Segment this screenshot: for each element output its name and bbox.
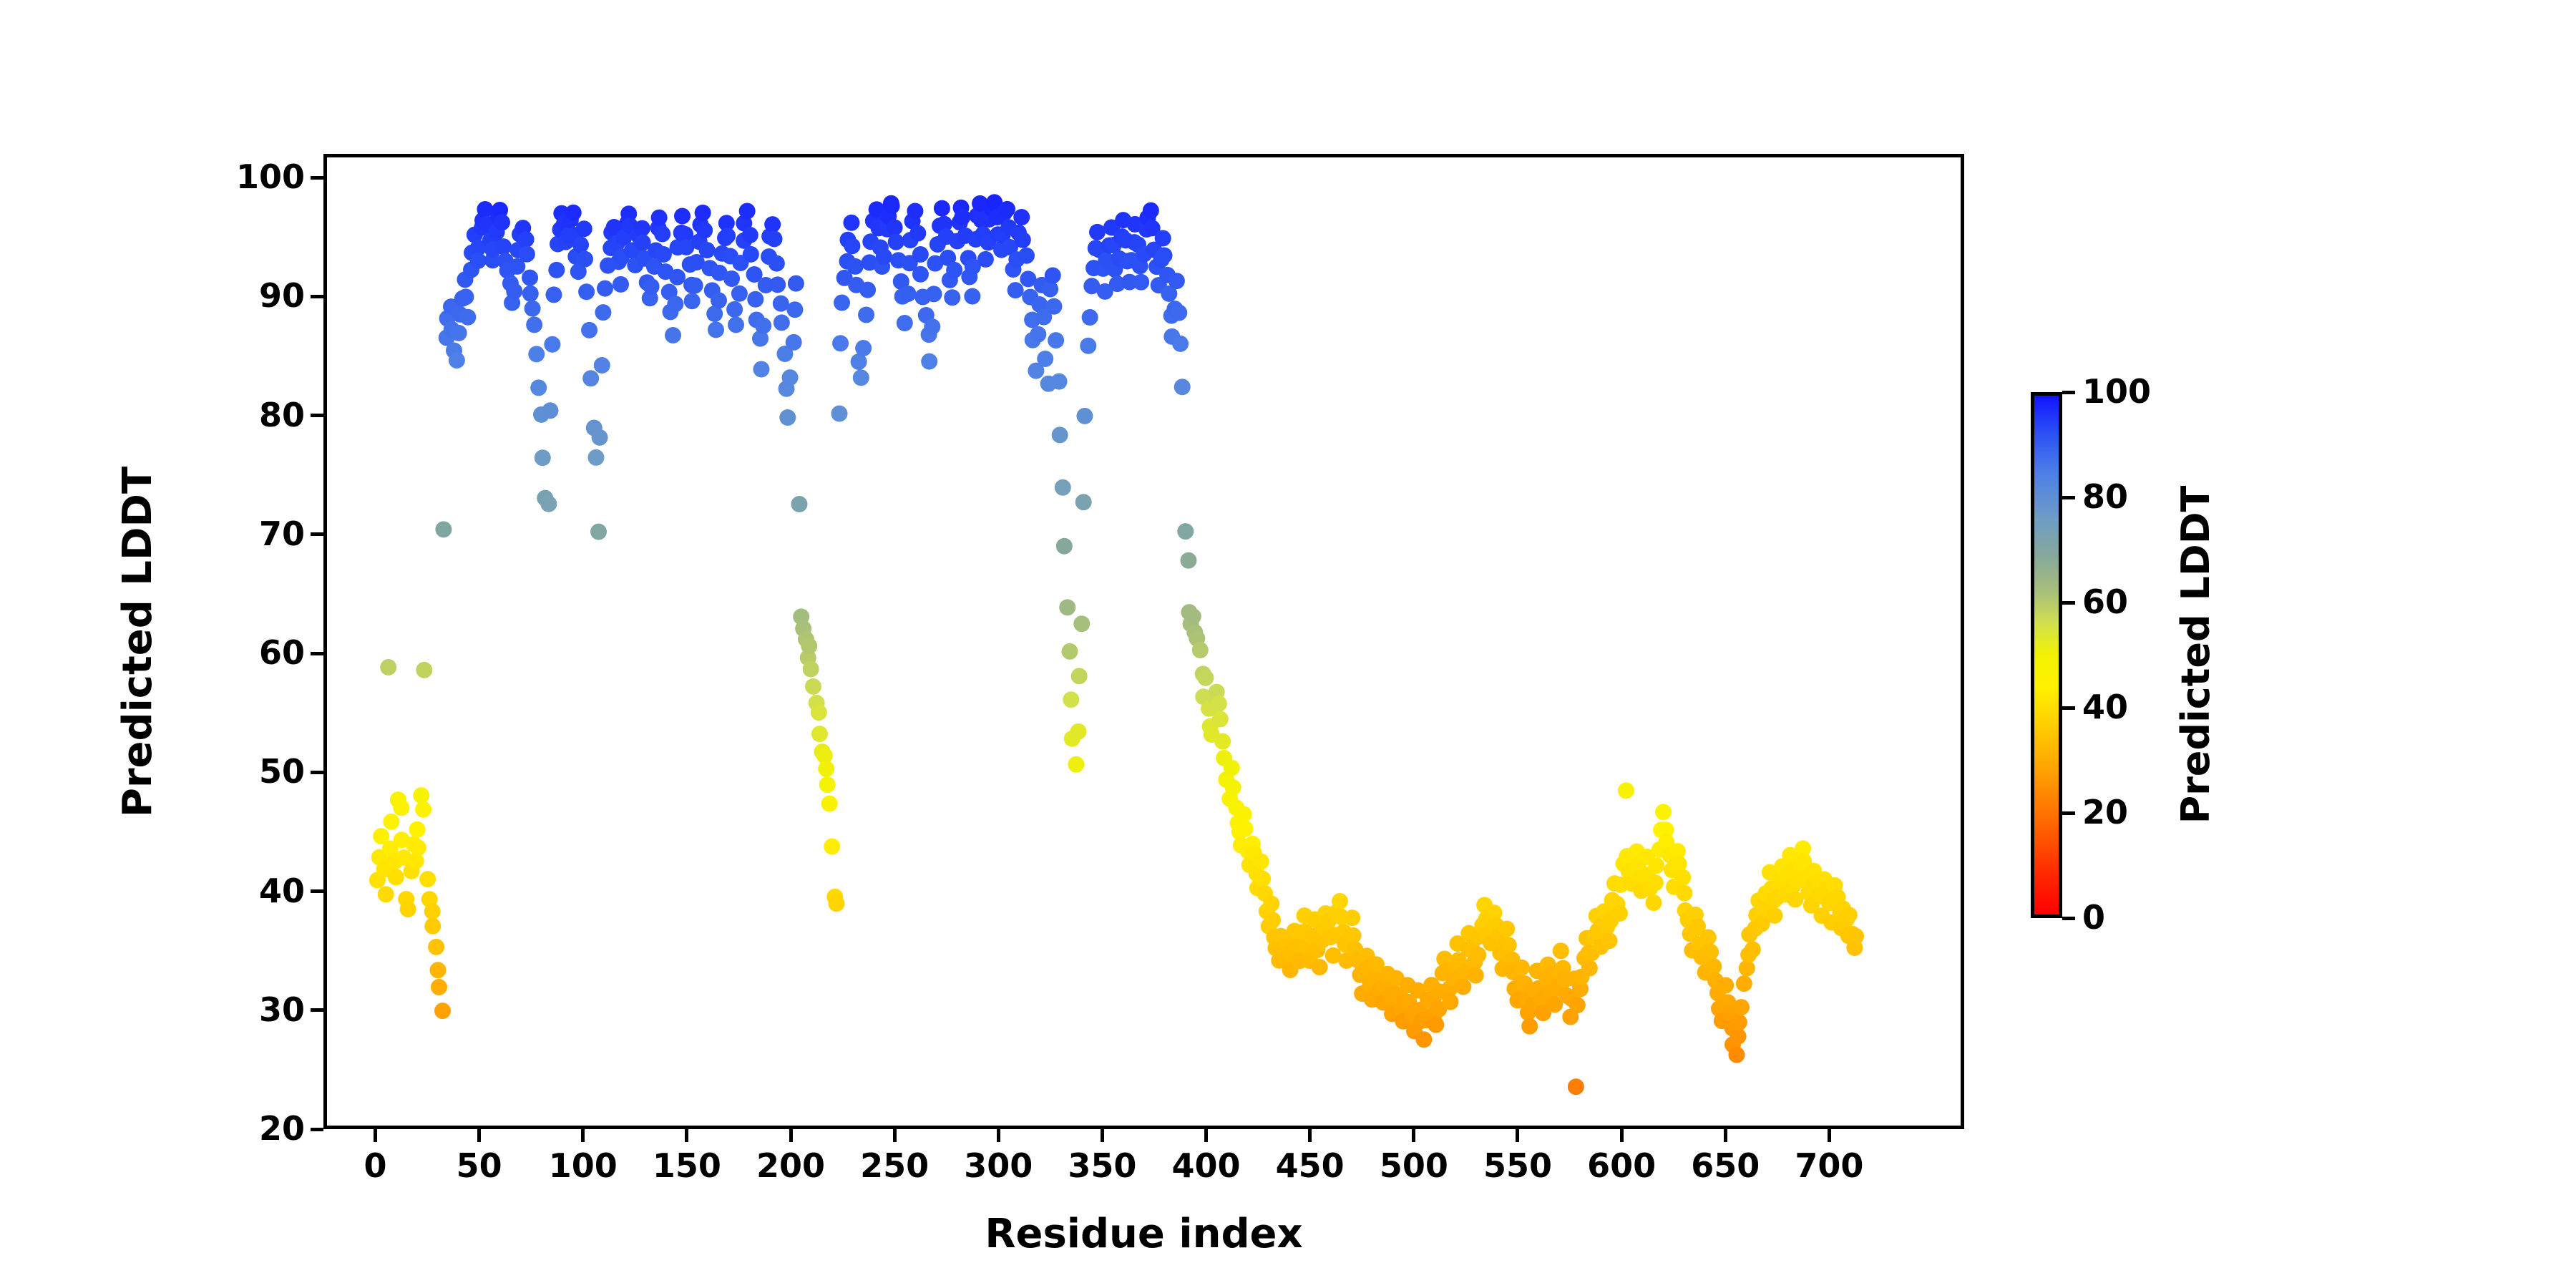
x-tick-mark (1516, 1129, 1519, 1142)
plot-axes-frame (323, 154, 1964, 1129)
y-tick-label: 100 (147, 160, 305, 193)
x-tick-mark (1412, 1129, 1415, 1142)
y-tick-mark (311, 295, 323, 298)
x-tick-label: 700 (1757, 1149, 1901, 1182)
y-axis-label: Predicted LDDT (114, 391, 161, 892)
x-tick-mark (1828, 1129, 1831, 1142)
colorbar-tick-mark (2062, 601, 2075, 605)
y-tick-label: 30 (147, 993, 305, 1026)
y-tick-label: 60 (147, 636, 305, 669)
y-tick-label: 90 (147, 279, 305, 312)
colorbar-tick-mark (2062, 917, 2075, 920)
y-tick-mark (311, 532, 323, 536)
x-tick-mark (893, 1129, 897, 1142)
x-tick-mark (789, 1129, 793, 1142)
x-tick-mark (1308, 1129, 1312, 1142)
y-tick-mark (311, 771, 323, 774)
x-tick-mark (1620, 1129, 1624, 1142)
y-tick-label: 70 (147, 517, 305, 550)
y-tick-mark (311, 1128, 323, 1131)
y-tick-mark (311, 889, 323, 893)
x-tick-mark (477, 1129, 481, 1142)
x-tick-mark (374, 1129, 377, 1142)
colorbar-label: Predicted LDDT (2173, 383, 2218, 927)
y-tick-mark (311, 176, 323, 180)
y-tick-label: 20 (147, 1112, 305, 1145)
x-tick-mark (1101, 1129, 1104, 1142)
colorbar-tick-mark (2062, 706, 2075, 710)
x-tick-mark (997, 1129, 1000, 1142)
y-tick-label: 40 (147, 874, 305, 907)
colorbar-tick-mark (2062, 811, 2075, 815)
x-tick-mark (1204, 1129, 1208, 1142)
y-tick-label: 80 (147, 399, 305, 431)
y-tick-label: 50 (147, 755, 305, 788)
colorbar-gradient (2031, 392, 2062, 918)
colorbar-tick-mark (2062, 496, 2075, 499)
x-axis-label: Residue index (323, 1211, 1964, 1257)
y-tick-mark (311, 414, 323, 417)
y-tick-mark (311, 1008, 323, 1012)
x-tick-mark (581, 1129, 585, 1142)
x-tick-mark (1724, 1129, 1727, 1142)
colorbar-tick-mark (2062, 391, 2075, 394)
figure-canvas: 2030405060708090100 05010015020025030035… (0, 0, 2576, 1288)
x-tick-mark (685, 1129, 688, 1142)
y-tick-mark (311, 652, 323, 655)
